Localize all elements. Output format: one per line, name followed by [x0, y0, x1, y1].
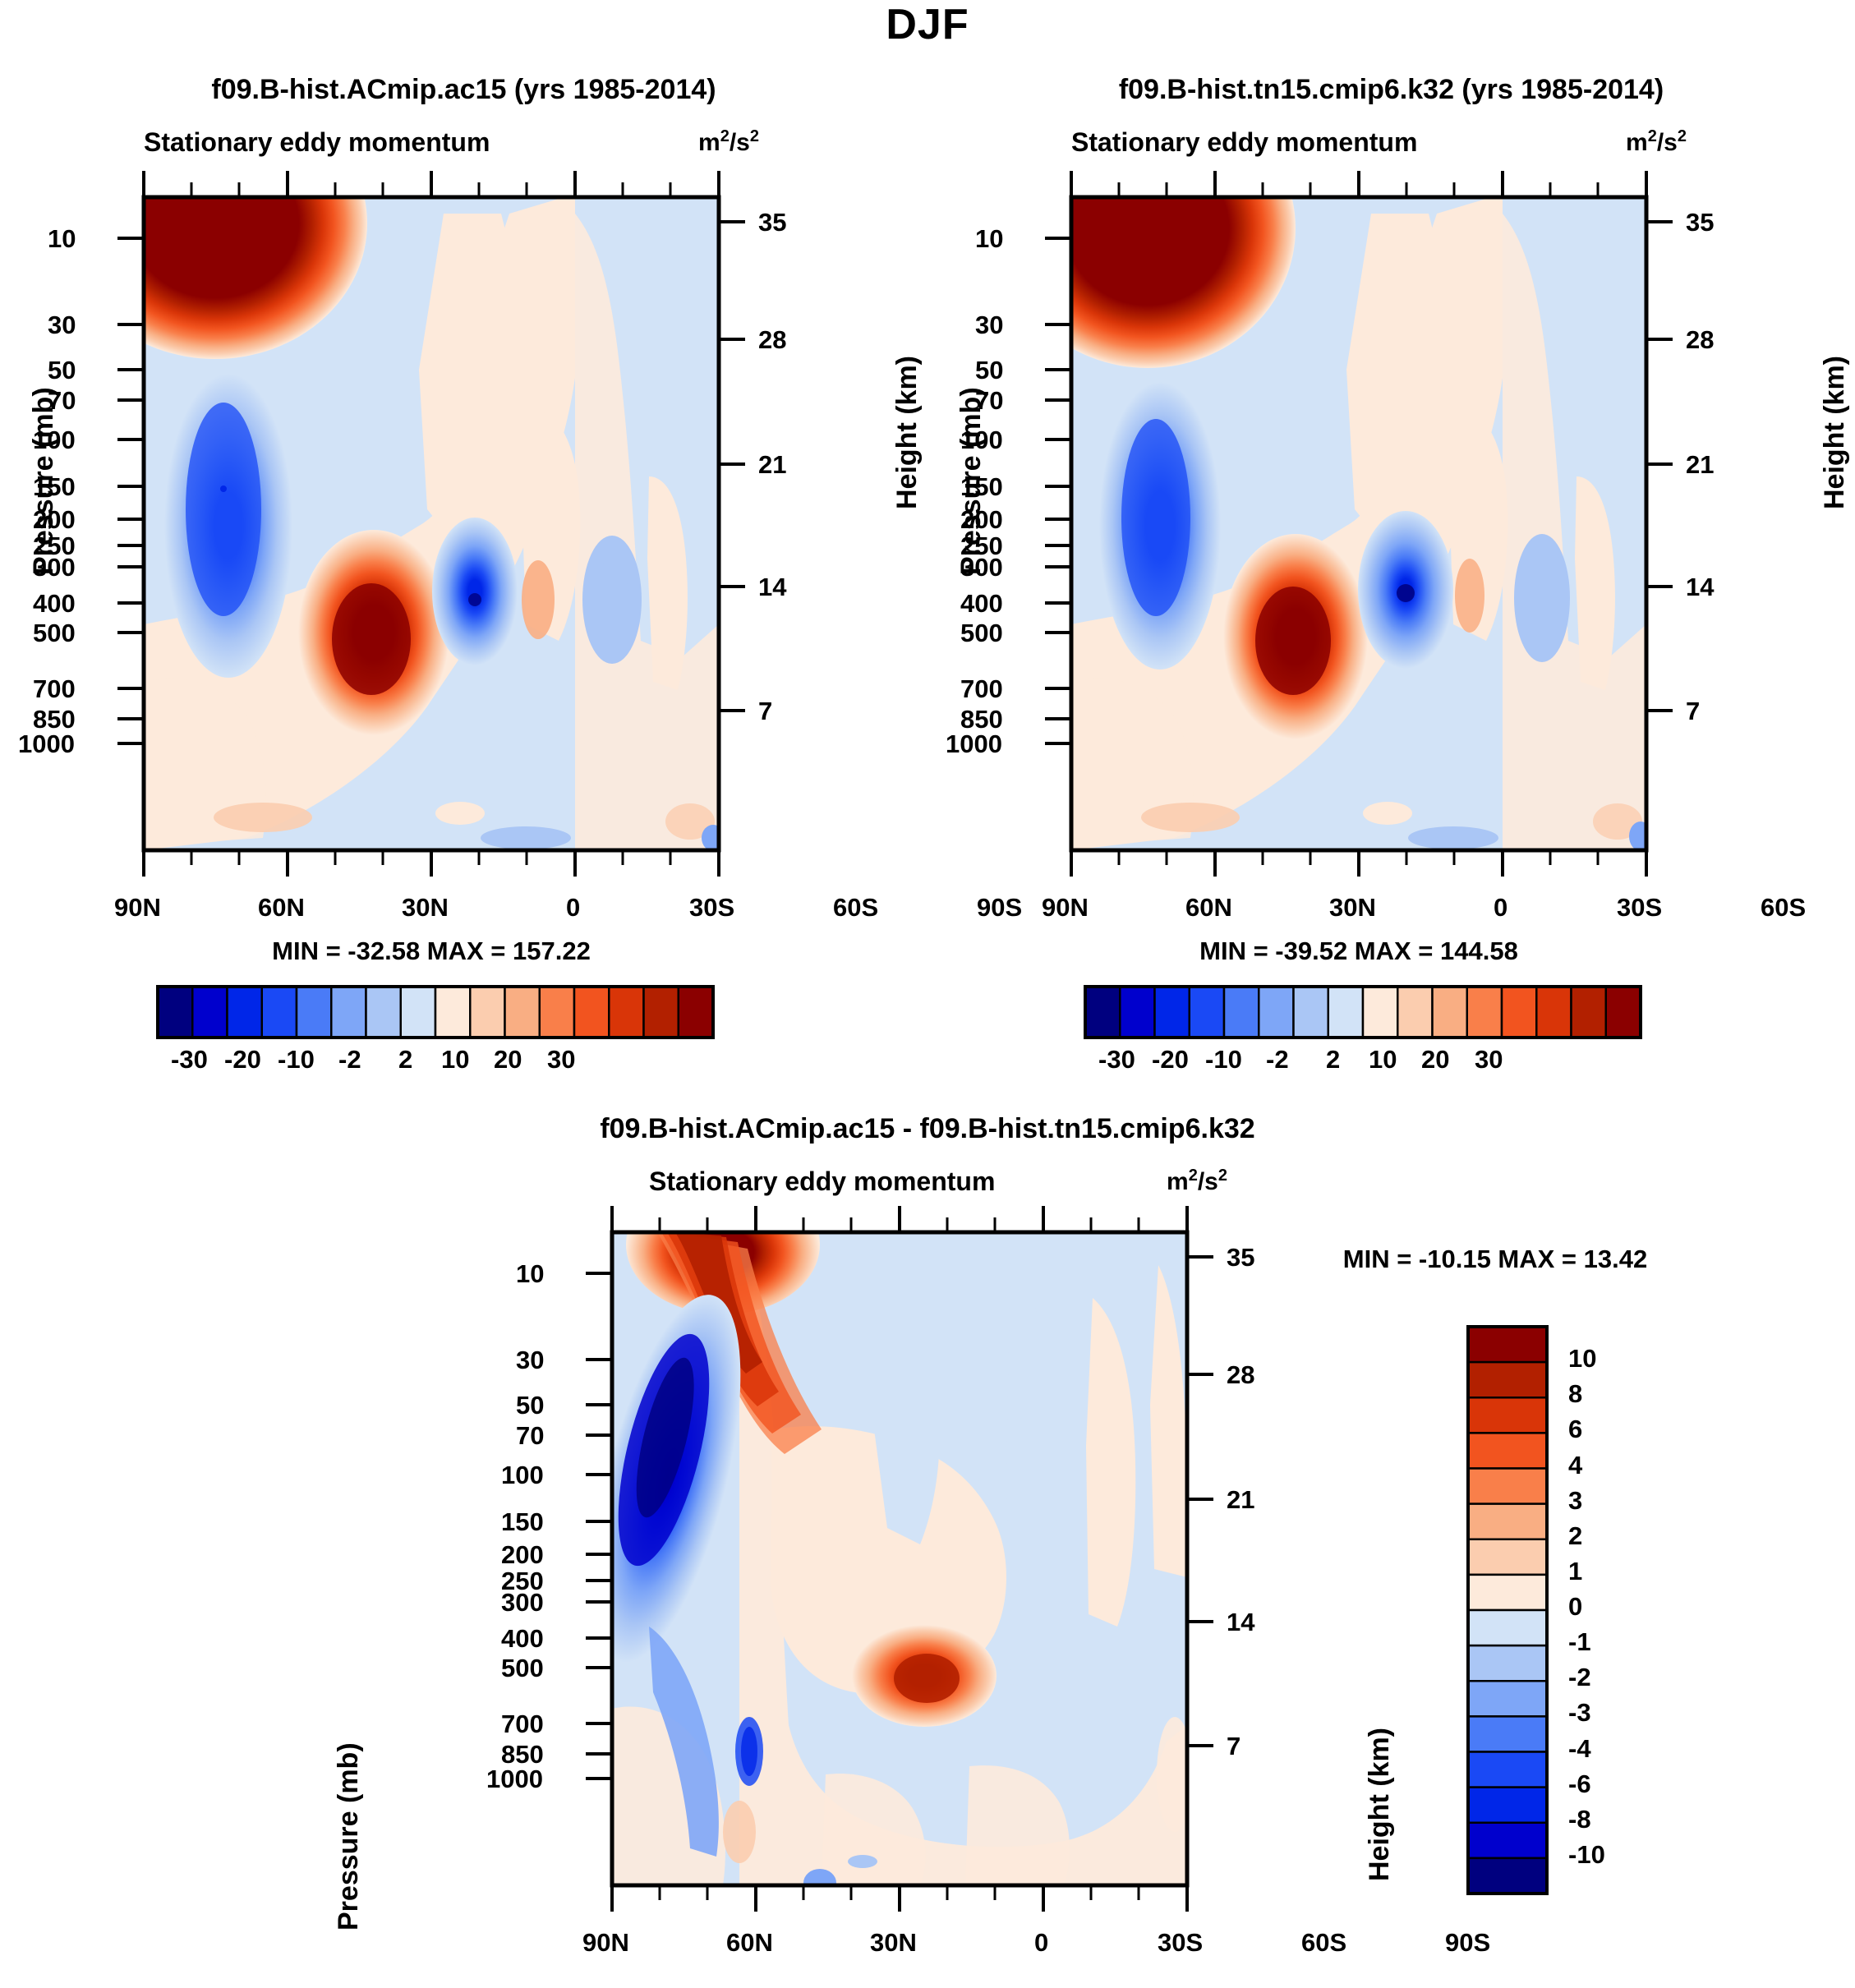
y-tick-300: 300: [501, 1588, 544, 1618]
y2-tick-7: 7: [1686, 697, 1700, 726]
y-tick-100: 100: [33, 426, 76, 455]
y-tick-150: 150: [33, 472, 76, 502]
colorbar-cell: [1468, 1433, 1547, 1468]
colorbar-cell: [609, 987, 643, 1038]
y-tick-300: 300: [960, 553, 1003, 582]
x-tick-60S: 60S: [1301, 1928, 1346, 1958]
x-tick-30N: 30N: [1329, 893, 1376, 923]
colorbar-cell: [1468, 1504, 1547, 1539]
cbar-label--2: -2: [1266, 1045, 1289, 1075]
cbar-diff-label: -3: [1568, 1698, 1591, 1728]
x-tick-30S: 30S: [1617, 893, 1662, 923]
cbar-label-20: 20: [494, 1045, 522, 1075]
cbar-diff-label: -4: [1568, 1734, 1591, 1764]
y-tick-1000: 1000: [946, 729, 1002, 759]
cbar-label--20: -20: [1152, 1045, 1189, 1075]
cbar-diff-label: 3: [1568, 1486, 1582, 1516]
y-tick-50: 50: [48, 356, 76, 385]
y2-tick-21: 21: [1227, 1485, 1254, 1515]
y2-tick-14: 14: [1227, 1608, 1254, 1637]
panel-units: m2/s2: [1626, 127, 1687, 157]
cbar-label-2: 2: [1326, 1045, 1340, 1075]
colorbar-cell: [505, 987, 540, 1038]
panel-title: f09.B-hist.tn15.cmip6.k32 (yrs 1985-2014…: [927, 74, 1855, 106]
cbar-diff-label: 10: [1568, 1344, 1596, 1374]
y-tick-400: 400: [501, 1624, 544, 1654]
cbar-diff-label: -6: [1568, 1769, 1591, 1799]
y2-tick-28: 28: [1227, 1360, 1254, 1390]
colorbar-cell: [331, 987, 366, 1038]
x-tick-60N: 60N: [258, 893, 305, 923]
x-tick-90N: 90N: [582, 1928, 629, 1958]
cbar-diff-label: 0: [1568, 1592, 1582, 1622]
x-tick-90S: 90S: [1445, 1928, 1490, 1958]
colorbar-cell: [644, 987, 679, 1038]
cbar-diff-label: 4: [1568, 1451, 1582, 1480]
colorbar-cell: [401, 987, 435, 1038]
y-tick-100: 100: [501, 1461, 544, 1490]
cbar-label-2: 2: [398, 1045, 412, 1075]
colorbar-cell: [435, 987, 470, 1038]
colorbar-cell: [1468, 1645, 1547, 1681]
colorbar-cell: [297, 987, 331, 1038]
y-tick-700: 700: [501, 1710, 544, 1739]
x-tick-60S: 60S: [1761, 893, 1806, 923]
y-tick-70: 70: [975, 386, 1003, 416]
colorbar-cell: [1468, 1397, 1547, 1433]
y-tick-30: 30: [48, 311, 76, 340]
y2-tick-21: 21: [1686, 450, 1714, 480]
cbar-label--20: -20: [224, 1045, 261, 1075]
y-tick-10: 10: [516, 1259, 544, 1289]
y-tick-50: 50: [516, 1391, 544, 1420]
colorbar-cell: [1468, 1858, 1547, 1894]
cbar-label--30: -30: [1098, 1045, 1135, 1075]
x-tick-0: 0: [1494, 893, 1507, 923]
cbar-diff-label: 6: [1568, 1415, 1582, 1444]
contour-plot-2: [927, 164, 1855, 945]
y2-tick-28: 28: [1686, 325, 1714, 355]
colorbar-cell: [574, 987, 609, 1038]
y2-tick-35: 35: [758, 208, 786, 237]
y-tick-200: 200: [501, 1540, 544, 1570]
y2-tick-14: 14: [758, 573, 786, 602]
panel-title: f09.B-hist.ACmip.ac15 - f09.B-hist.tn15.…: [0, 1113, 1855, 1145]
colorbar-cell: [1467, 987, 1502, 1038]
x-tick-0: 0: [1034, 1928, 1048, 1958]
colorbar-cell: [1224, 987, 1259, 1038]
colorbar-cell: [1468, 1327, 1547, 1362]
y-tick-1000: 1000: [18, 729, 75, 759]
cbar-label-20: 20: [1421, 1045, 1449, 1075]
x-tick-90N: 90N: [1042, 893, 1089, 923]
y-tick-400: 400: [33, 589, 76, 619]
y-tick-200: 200: [960, 505, 1003, 535]
colorbar-cell: [1363, 987, 1397, 1038]
cbar-diff-label: 1: [1568, 1557, 1582, 1586]
x-tick-0: 0: [566, 893, 580, 923]
contour-plot-1: [0, 164, 927, 945]
colorbar-cell: [158, 987, 192, 1038]
panel-minmax: MIN = -32.58 MAX = 157.22: [144, 936, 719, 966]
x-tick-30N: 30N: [402, 893, 449, 923]
cbar-diff-label: -1: [1568, 1627, 1591, 1657]
panel-minmax: MIN = -39.52 MAX = 144.58: [1071, 936, 1646, 966]
panel-subtitle: Stationary eddy momentum: [649, 1167, 995, 1197]
y-tick-30: 30: [516, 1346, 544, 1375]
panel-minmax: MIN = -10.15 MAX = 13.42: [1265, 1245, 1725, 1274]
panel-bottom-diff: f09.B-hist.ACmip.ac15 - f09.B-hist.tn15.…: [0, 1093, 1855, 1958]
colorbar-cell: [1468, 1575, 1547, 1610]
colorbar-cell: [1502, 987, 1536, 1038]
colorbar-cell: [1468, 1539, 1547, 1575]
y2-tick-28: 28: [758, 325, 786, 355]
panel-top-left: f09.B-hist.ACmip.ac15 (yrs 1985-2014) St…: [0, 0, 927, 1093]
colorbar-cell: [228, 987, 262, 1038]
colorbar-cell: [1328, 987, 1363, 1038]
colorbar-cell: [1085, 987, 1120, 1038]
cbar-label--30: -30: [171, 1045, 208, 1075]
y-tick-500: 500: [501, 1654, 544, 1683]
y2-tick-7: 7: [758, 697, 772, 726]
colorbar-cell: [1433, 987, 1467, 1038]
colorbar-cell: [1572, 987, 1606, 1038]
cbar-diff-label: -8: [1568, 1805, 1591, 1834]
cbar-diff-label: 8: [1568, 1379, 1582, 1409]
y2-tick-21: 21: [758, 450, 786, 480]
x-tick-30S: 30S: [1158, 1928, 1203, 1958]
cbar-label--10: -10: [278, 1045, 315, 1075]
colorbar-cell: [1606, 987, 1641, 1038]
colorbar-cell: [679, 987, 713, 1038]
y-tick-1000: 1000: [486, 1765, 543, 1794]
x-tick-90N: 90N: [114, 893, 161, 923]
colorbar-cell: [1468, 1752, 1547, 1788]
y-tick-100: 100: [960, 426, 1003, 455]
y-tick-200: 200: [33, 505, 76, 535]
x-tick-60N: 60N: [1185, 893, 1232, 923]
cbar-label-10: 10: [441, 1045, 469, 1075]
y-tick-30: 30: [975, 311, 1003, 340]
panel-title: f09.B-hist.ACmip.ac15 (yrs 1985-2014): [0, 74, 927, 106]
cbar-label-30: 30: [547, 1045, 575, 1075]
colorbar-cell: [1397, 987, 1432, 1038]
colorbar-diff: [1458, 1318, 1672, 1910]
colorbar-cell: [1468, 1610, 1547, 1645]
y-tick-150: 150: [501, 1507, 544, 1537]
cbar-diff-label: -2: [1568, 1663, 1591, 1692]
panel-subtitle: Stationary eddy momentum: [144, 127, 490, 158]
x-tick-60S: 60S: [833, 893, 878, 923]
y2-tick-35: 35: [1686, 208, 1714, 237]
colorbar-cell: [1468, 1823, 1547, 1858]
y-tick-700: 700: [960, 674, 1003, 704]
cbar-label--2: -2: [338, 1045, 361, 1075]
colorbar-cell: [1155, 987, 1190, 1038]
x-tick-30N: 30N: [870, 1928, 917, 1958]
y-tick-70: 70: [48, 386, 76, 416]
panel-units: m2/s2: [1167, 1167, 1227, 1196]
x-tick-30S: 30S: [689, 893, 734, 923]
colorbar-cell: [192, 987, 227, 1038]
colorbar-cell: [366, 987, 401, 1038]
colorbar-cell: [1468, 1362, 1547, 1397]
colorbar-cell: [1468, 1716, 1547, 1751]
colorbar-cell: [262, 987, 297, 1038]
colorbar-cell: [470, 987, 504, 1038]
colorbar-cell: [1468, 1469, 1547, 1504]
colorbar-cell: [1468, 1681, 1547, 1716]
colorbar-cell: [540, 987, 574, 1038]
panel-top-right: f09.B-hist.tn15.cmip6.k32 (yrs 1985-2014…: [927, 0, 1855, 1093]
colorbar-cell: [1259, 987, 1293, 1038]
colorbar-cell: [1294, 987, 1328, 1038]
y-tick-500: 500: [33, 619, 76, 648]
cbar-diff-label: 2: [1568, 1521, 1582, 1551]
colorbar-cell: [1120, 987, 1154, 1038]
cbar-diff-label: -10: [1568, 1840, 1605, 1870]
y-tick-70: 70: [516, 1421, 544, 1451]
y-tick-10: 10: [975, 224, 1003, 254]
y-tick-400: 400: [960, 589, 1003, 619]
panel-subtitle: Stationary eddy momentum: [1071, 127, 1417, 158]
y-tick-50: 50: [975, 356, 1003, 385]
y-tick-10: 10: [48, 224, 76, 254]
y2-tick-14: 14: [1686, 573, 1714, 602]
cbar-label-10: 10: [1369, 1045, 1397, 1075]
y2-tick-7: 7: [1227, 1732, 1241, 1761]
y-tick-150: 150: [960, 472, 1003, 502]
colorbar-cell: [1190, 987, 1224, 1038]
cbar-label--10: -10: [1205, 1045, 1242, 1075]
x-tick-60N: 60N: [726, 1928, 773, 1958]
colorbar-cell: [1468, 1788, 1547, 1823]
y2-tick-35: 35: [1227, 1243, 1254, 1272]
cbar-label-30: 30: [1475, 1045, 1503, 1075]
y-tick-500: 500: [960, 619, 1003, 648]
y-tick-300: 300: [33, 553, 76, 582]
y-tick-700: 700: [33, 674, 76, 704]
colorbar-cell: [1536, 987, 1571, 1038]
panel-units: m2/s2: [698, 127, 759, 157]
